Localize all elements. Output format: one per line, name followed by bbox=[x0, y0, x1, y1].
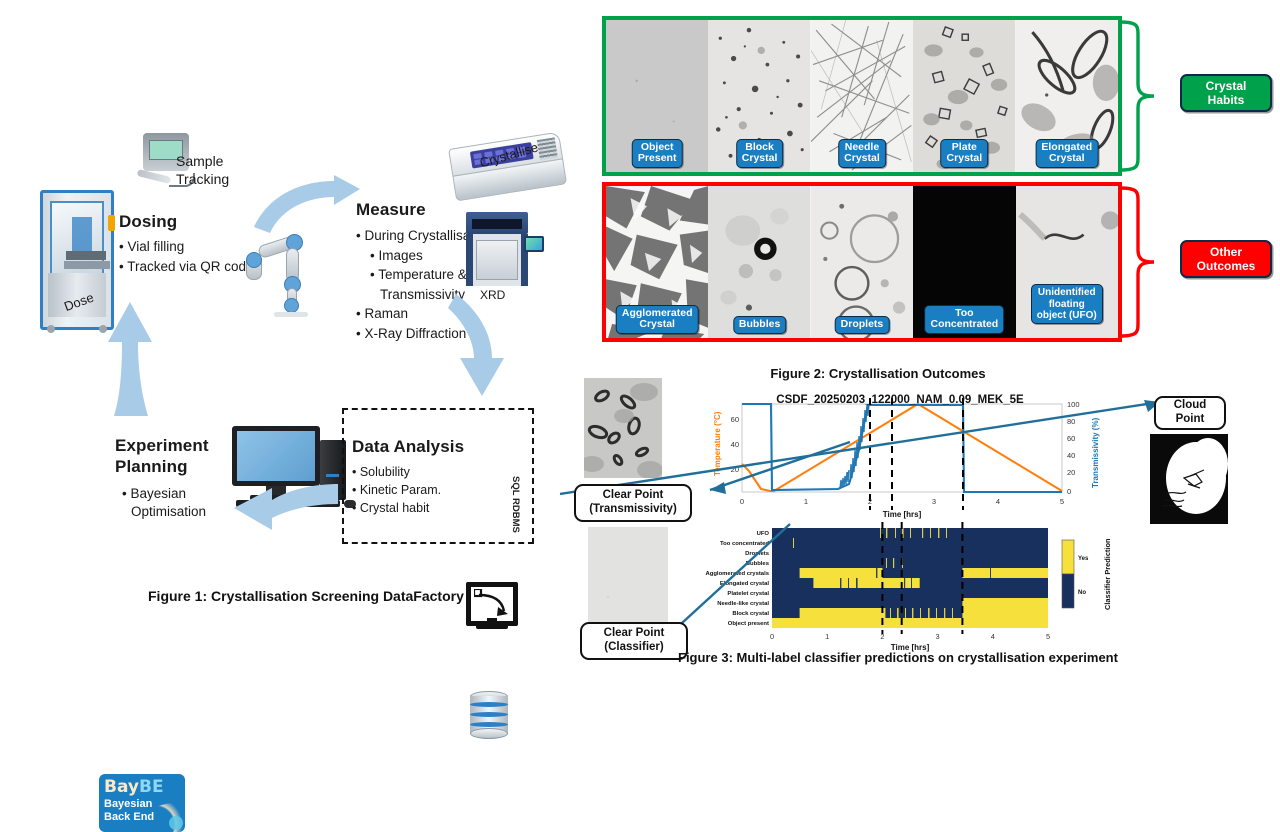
arrow-dosing-to-measure bbox=[252, 175, 362, 235]
analysis-monitor-icon bbox=[466, 582, 518, 626]
data-analysis-title: Data Analysis bbox=[352, 437, 464, 457]
cpc-line1: Clear Point bbox=[604, 627, 665, 641]
experiment-planning-title: Experiment Planning bbox=[115, 435, 209, 478]
baybe-logo: BayBE Bayesian Back End bbox=[99, 774, 185, 832]
baybe-sub2: Back End bbox=[104, 811, 154, 824]
outcome-cell-bubbles: Bubbles bbox=[708, 186, 810, 338]
callout-clear-point-classifier: Clear Point (Classifier) bbox=[580, 622, 688, 660]
figure3-caption: Figure 3: Multi-label classifier predict… bbox=[678, 650, 1118, 665]
arrow-analysis-to-planning bbox=[232, 478, 340, 534]
outcome-cell-elongated-crystal: Elongated Crystal bbox=[1016, 20, 1118, 172]
outcome-label: Bubbles bbox=[733, 316, 786, 334]
dosing-bullet-0: • Vial filling bbox=[119, 237, 254, 257]
outcome-cell-block-crystal: Block Crystal bbox=[708, 20, 810, 172]
outcome-label: Droplets bbox=[835, 316, 890, 334]
baybe-subtitle: Bayesian Back End bbox=[104, 798, 154, 823]
arrow-planning-to-dosing bbox=[100, 300, 160, 420]
outcome-label: Agglomerated Crystal bbox=[616, 305, 699, 335]
outcome-label: Plate Crystal bbox=[941, 139, 989, 169]
analysis-bullet-1: • Kinetic Param. bbox=[352, 481, 441, 499]
outcome-cell-droplets: Droplets bbox=[811, 186, 913, 338]
arrow-measure-to-analysis bbox=[448, 292, 518, 402]
other-outcomes-tag: Other Outcomes bbox=[1180, 240, 1272, 278]
outcome-cell-agglomerated-crystal: Agglomerated Crystal bbox=[606, 186, 708, 338]
baybe-be: BE bbox=[139, 777, 164, 797]
micrograph-bubbles bbox=[708, 186, 810, 338]
experiment-planning-bullets: • Bayesian Optimisation bbox=[122, 485, 206, 521]
figure1-caption: Figure 1: Crystallisation Screening Data… bbox=[148, 588, 464, 604]
figure-1-datafactory: Dose Sample Tracking Dosing • Vial filli… bbox=[0, 0, 600, 720]
analysis-bullet-0: • Solubility bbox=[352, 463, 441, 481]
crystal-habits-tag-line2: Habits bbox=[1206, 93, 1247, 107]
planning-bullet-0: • Bayesian bbox=[122, 485, 206, 503]
outcome-label: Elongated Crystal bbox=[1035, 139, 1098, 169]
measure-title: Measure bbox=[356, 200, 426, 220]
planning-bullet-1: Optimisation bbox=[122, 503, 206, 521]
cpt-line2: (Transmissivity) bbox=[589, 503, 677, 517]
cpc-line2: (Classifier) bbox=[604, 641, 665, 655]
dosing-title: Dosing bbox=[119, 212, 177, 232]
crystal-habits-tag: Crystal Habits bbox=[1180, 74, 1272, 112]
outcome-cell-ufo: Unidentified floating object (UFO) bbox=[1016, 186, 1118, 338]
outcome-label: Needle Crystal bbox=[838, 139, 886, 169]
other-outcomes-panel: Agglomerated Crystal Bubbles bbox=[602, 182, 1122, 342]
data-analysis-bullets: • Solubility • Kinetic Param. • Crystal … bbox=[352, 463, 441, 517]
outcome-cell-needle-crystal: Needle Crystal bbox=[811, 20, 913, 172]
outcome-label: Object Present bbox=[632, 139, 683, 169]
robot-arm-image bbox=[246, 232, 312, 318]
planning-title-line2: Planning bbox=[115, 456, 209, 477]
crystal-habits-panel: Object Present bbox=[602, 16, 1122, 176]
baybe-wordmark: BayBE bbox=[104, 777, 164, 797]
callout-cloud-point: Cloud Point bbox=[1154, 396, 1226, 430]
outcome-cell-too-concentrated: Too Concentrated bbox=[913, 186, 1015, 338]
outcome-label: Unidentified floating object (UFO) bbox=[1031, 284, 1103, 324]
micrograph-droplets bbox=[811, 186, 913, 338]
dosing-bullet-1: • Tracked via QR code bbox=[119, 257, 254, 277]
callout-clear-point-transmissivity: Clear Point (Transmissivity) bbox=[574, 484, 692, 522]
outcome-label: Too Concentrated bbox=[925, 305, 1005, 335]
xrd-instrument-image bbox=[466, 212, 528, 286]
outcome-cell-object-present: Object Present bbox=[606, 20, 708, 172]
figure-2-outcomes: Object Present bbox=[598, 8, 1280, 383]
sample-tracking-line2: Tracking bbox=[176, 170, 229, 188]
thumbnail-cloud-point-image bbox=[1150, 434, 1228, 524]
figure-3-classifier: 604020 Temperature (°C) 1008060 40200 Tr… bbox=[560, 372, 1280, 672]
cloud-line2: Point bbox=[1174, 413, 1207, 427]
other-outcomes-tag-line1: Other bbox=[1197, 245, 1256, 259]
sample-tracking-label: Sample Tracking bbox=[176, 152, 229, 188]
sql-rdbms-label: SQL RDBMS bbox=[510, 476, 521, 533]
cloud-line1: Cloud bbox=[1174, 399, 1207, 413]
sample-tracking-line1: Sample bbox=[176, 152, 229, 170]
baybe-sub1: Bayesian bbox=[104, 798, 154, 811]
crystal-habits-tag-line1: Crystal bbox=[1206, 79, 1247, 93]
outcome-label: Block Crystal bbox=[736, 139, 784, 169]
cpt-line1: Clear Point bbox=[589, 489, 677, 503]
analysis-bullet-2: • Crystal habit bbox=[352, 499, 441, 517]
outcome-cell-plate-crystal: Plate Crystal bbox=[913, 20, 1015, 172]
baybe-bay: Bay bbox=[104, 777, 139, 797]
dosing-bullets: • Vial filling • Tracked via QR code bbox=[119, 237, 254, 276]
other-outcomes-tag-line2: Outcomes bbox=[1197, 259, 1256, 273]
sql-database-icon bbox=[470, 691, 508, 737]
planning-title-line1: Experiment bbox=[115, 435, 209, 456]
